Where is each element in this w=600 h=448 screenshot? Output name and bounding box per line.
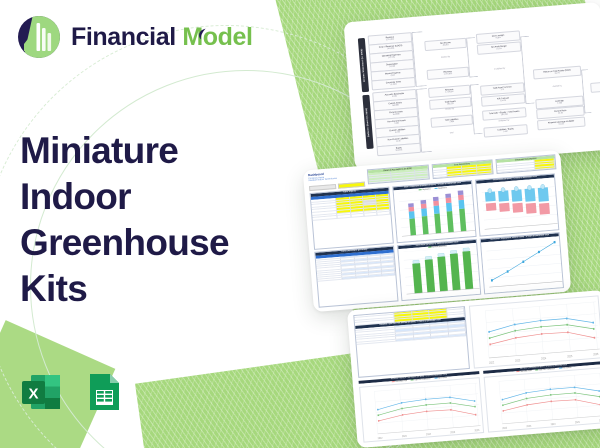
page-title: Miniature Indoor Greenhouse Kits <box>20 128 280 312</box>
dupont-tree: Income Statement (in $000) Balance Sheet… <box>351 8 600 163</box>
excel-letter: X <box>28 386 38 403</box>
dupont-analysis-tree-card[interactable]: Income Statement (in $000) Balance Sheet… <box>343 2 600 170</box>
band-income-statement: Income Statement (in $000) <box>358 38 369 92</box>
svg-text:2024: 2024 <box>541 356 547 361</box>
brand-logo: Financial Model <box>16 14 253 60</box>
line-chart-bottom-left: 20222023202420252026 <box>359 377 484 443</box>
investment-scatter-chart <box>481 236 563 293</box>
cashflow-bar-chart <box>399 246 481 300</box>
svg-text:2022: 2022 <box>502 426 508 430</box>
svg-text:2022: 2022 <box>489 360 495 365</box>
tree-operator: divided by <box>534 84 580 90</box>
svg-text:2026: 2026 <box>593 352 599 357</box>
tree-node: Total Liabilities7,464 <box>430 115 473 128</box>
tree-operator: divided by <box>426 55 466 60</box>
tree-node: Net Income48,018 <box>424 38 467 51</box>
brand-name-part2: Model <box>182 23 252 51</box>
circle-bar-chart-leaf-logo-icon <box>16 14 62 60</box>
tree-operator: total <box>432 131 472 136</box>
profitability-chart <box>476 178 558 236</box>
microsoft-excel-icon[interactable]: X <box>18 369 64 420</box>
line-charts-card[interactable]: Revenue / EBITDA / Net Income (in $000) … <box>347 290 600 448</box>
svg-text:2022: 2022 <box>378 436 384 440</box>
google-sheets-icon[interactable] <box>80 369 126 420</box>
line-chart-top-right: 20222023202420252026 <box>469 295 600 368</box>
svg-text:2025: 2025 <box>567 354 573 359</box>
tree-node: Net Profit Margin23.1% <box>477 41 522 54</box>
tree-node: A/R Turnover104.24 <box>481 93 526 106</box>
svg-text:2024: 2024 <box>551 422 557 426</box>
svg-text:2025: 2025 <box>450 430 456 434</box>
svg-text:2023: 2023 <box>402 434 408 438</box>
tree-node-roe: Return on Equity (ROE)39.11% <box>590 79 600 92</box>
tree-node: Return on Total Assets (ROA)33.7% <box>533 66 582 80</box>
svg-text:2024: 2024 <box>426 432 432 436</box>
dashboard-body: Dashboard Company Name Miniature Indoor … <box>308 154 566 307</box>
tree-node: Revenue1,714,820 <box>428 85 471 98</box>
tree-node: Revenue1,714,820 <box>427 67 470 80</box>
headline-line-2: Indoor <box>20 174 280 220</box>
brand-name-part1: Financial <box>71 23 176 51</box>
file-format-icons: X <box>18 369 126 420</box>
brand-name: Financial Model <box>71 25 253 50</box>
financial-dashboard-card[interactable]: Dashboard Company Name Miniature Indoor … <box>303 150 572 312</box>
line-chart-bottom-right: 20222023202420252026 <box>484 367 600 433</box>
svg-text:2026: 2026 <box>474 428 480 432</box>
svg-text:2023: 2023 <box>526 424 532 428</box>
svg-text:2023: 2023 <box>515 358 521 363</box>
band-balance-sheet: Balance Sheet (in $000) <box>362 95 373 149</box>
headline-line-1: Miniature <box>20 128 280 174</box>
svg-text:2025: 2025 <box>575 420 581 424</box>
tree-node: Liabilities / Equity0.057 <box>483 124 528 137</box>
leaf-icon <box>198 28 207 40</box>
tree-operator: multiplied by <box>479 66 521 71</box>
tree-node: Equity163,226 <box>377 143 422 156</box>
headline-line-3: Greenhouse <box>20 220 280 266</box>
headline-line-4: Kits <box>20 266 280 312</box>
stacked-bar-chart <box>394 187 476 242</box>
